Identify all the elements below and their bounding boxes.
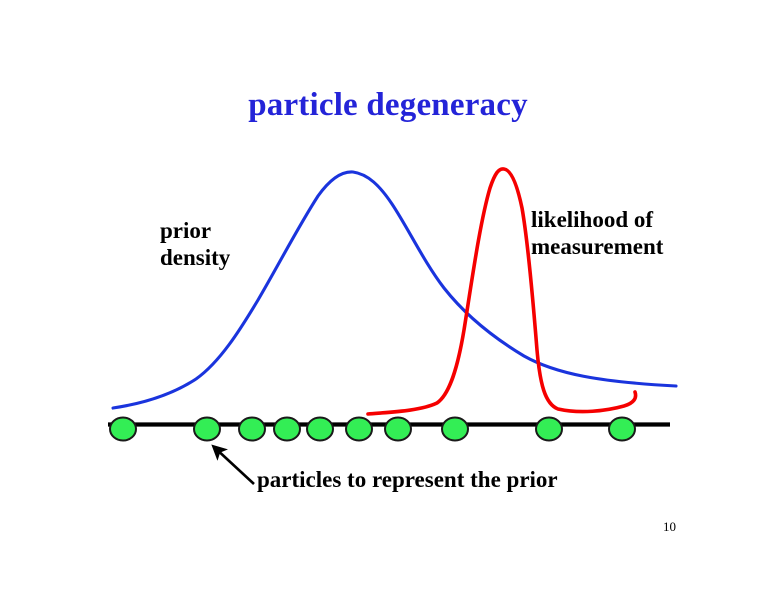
particle[interactable] xyxy=(609,418,635,441)
likelihood-label-line2: measurement xyxy=(531,234,663,259)
caption-arrow-icon xyxy=(214,447,254,484)
slide-canvas: particle degeneracy priordensity likelih… xyxy=(0,0,776,600)
prior-density-label: priordensity xyxy=(160,217,230,271)
particle[interactable] xyxy=(442,418,468,441)
particle[interactable] xyxy=(110,418,136,441)
particles-caption: particles to represent the prior xyxy=(257,466,558,493)
page-title: particle degeneracy xyxy=(0,86,776,125)
particle[interactable] xyxy=(536,418,562,441)
particles-group xyxy=(110,418,635,441)
particle[interactable] xyxy=(346,418,372,441)
particle[interactable] xyxy=(274,418,300,441)
particle[interactable] xyxy=(307,418,333,441)
likelihood-label-line1: likelihood of xyxy=(531,207,653,232)
particle[interactable] xyxy=(385,418,411,441)
particle[interactable] xyxy=(194,418,220,441)
likelihood-label: likelihood ofmeasurement xyxy=(531,206,663,260)
prior-density-label-line2: density xyxy=(160,245,230,270)
prior-density-label-line1: prior xyxy=(160,218,211,243)
page-number: 10 xyxy=(663,519,676,534)
particle[interactable] xyxy=(239,418,265,441)
